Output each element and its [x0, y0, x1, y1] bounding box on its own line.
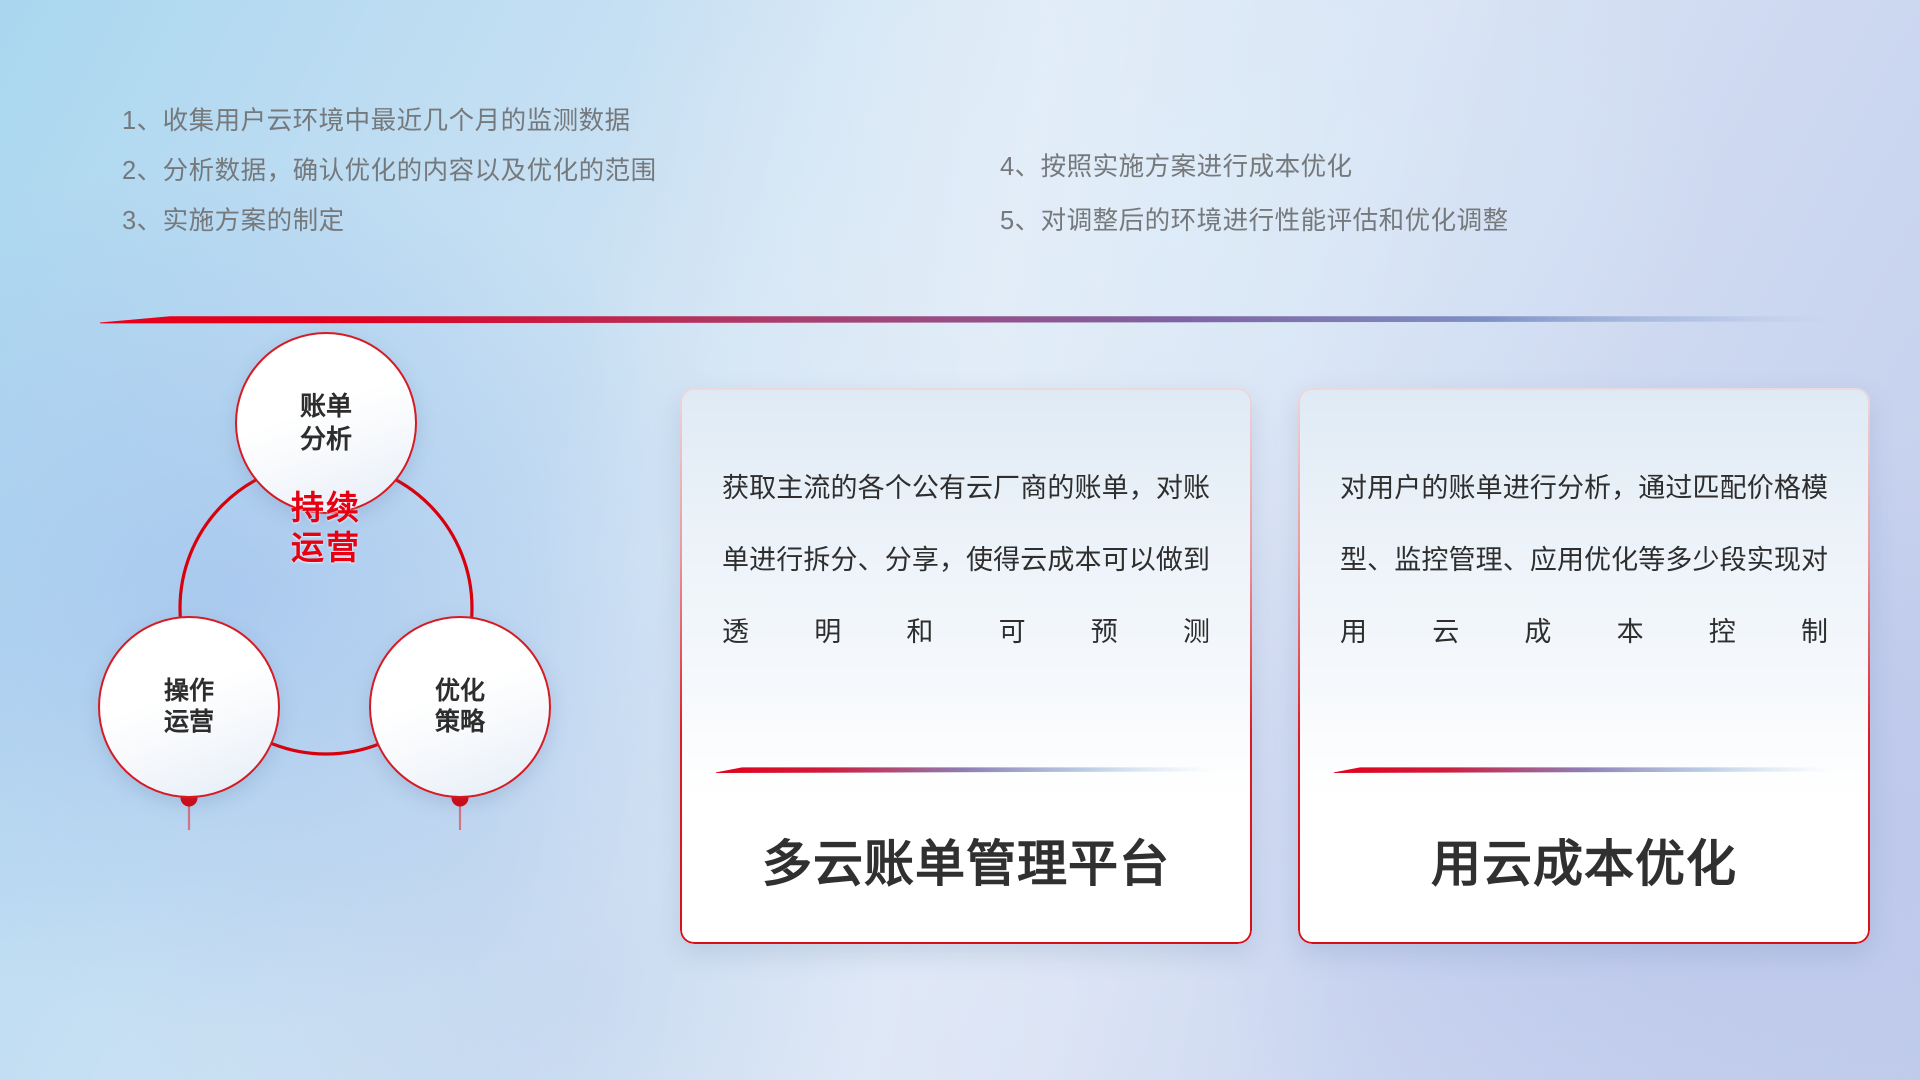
- card-body-text: 获取主流的各个公有云厂商的账单，对账单进行拆分、分享，使得云成本可以做到透明和可…: [722, 452, 1210, 668]
- card-accent-rule: [716, 766, 1216, 773]
- bubble-label-line1: 账单: [300, 390, 352, 423]
- list-item: 5、对调整后的环境进行性能评估和优化调整: [1000, 194, 1760, 248]
- list-item: 1、收集用户云环境中最近几个月的监测数据: [122, 96, 782, 146]
- card-cloud-cost-optimization[interactable]: 对用户的账单进行分析，通过匹配价格模型、监控管理、应用优化等多少段实现对用云成本…: [1298, 388, 1870, 944]
- center-label-line1: 持续: [266, 488, 386, 528]
- card-title: 用云成本优化: [1298, 824, 1870, 896]
- steps-list-left: 1、收集用户云环境中最近几个月的监测数据 2、分析数据，确认优化的内容以及优化的…: [122, 96, 782, 246]
- card-accent-rule: [1334, 766, 1834, 773]
- continuous-operations-diagram: 账单 分析 操作 运营 优化 策略 持续 运营: [96, 348, 656, 948]
- bubble-label-line2: 运营: [164, 707, 214, 739]
- section-divider: [100, 313, 1835, 324]
- bubble-billing-analysis[interactable]: 账单 分析: [235, 332, 417, 514]
- bubble-label-line2: 分析: [300, 423, 352, 456]
- slide-canvas: 1、收集用户云环境中最近几个月的监测数据 2、分析数据，确认优化的内容以及优化的…: [0, 0, 1920, 1080]
- list-item: 2、分析数据，确认优化的内容以及优化的范围: [122, 146, 782, 196]
- center-label-line2: 运营: [266, 528, 386, 568]
- card-title: 多云账单管理平台: [680, 824, 1252, 896]
- bubble-optimization-policy[interactable]: 优化 策略: [369, 616, 551, 798]
- card-multi-cloud-billing-platform[interactable]: 获取主流的各个公有云厂商的账单，对账单进行拆分、分享，使得云成本可以做到透明和可…: [680, 388, 1252, 944]
- bubble-label-line1: 优化: [435, 676, 485, 708]
- list-item: 3、实施方案的制定: [122, 196, 782, 246]
- diagram-center-label: 持续 运营: [266, 488, 386, 569]
- list-item: 4、按照实施方案进行成本优化: [1000, 140, 1760, 194]
- steps-list-right: 4、按照实施方案进行成本优化 5、对调整后的环境进行性能评估和优化调整: [1000, 140, 1760, 248]
- card-body-text: 对用户的账单进行分析，通过匹配价格模型、监控管理、应用优化等多少段实现对用云成本…: [1340, 452, 1828, 668]
- bubble-operation-ops[interactable]: 操作 运营: [98, 616, 280, 798]
- bubble-label-line2: 策略: [435, 707, 485, 739]
- bubble-label-line1: 操作: [164, 676, 214, 708]
